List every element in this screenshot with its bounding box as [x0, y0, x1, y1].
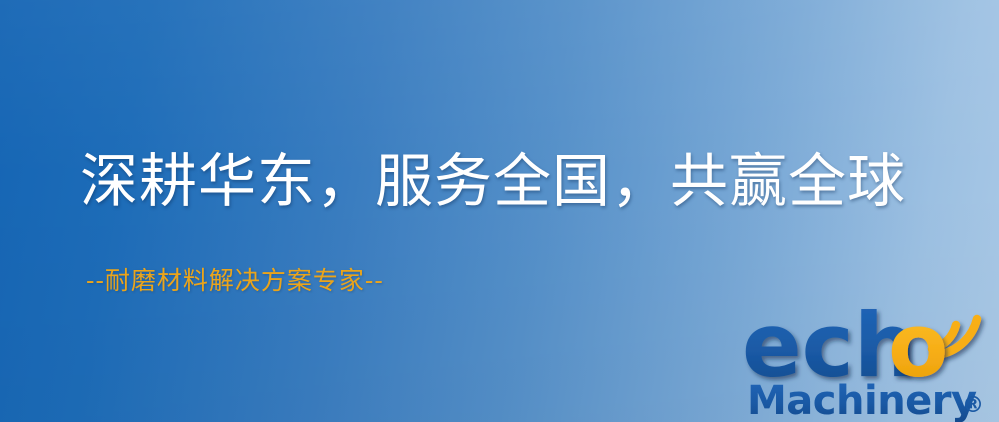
banner-subtitle: --耐磨材料解决方案专家--: [86, 268, 384, 293]
logo-svg: ech o Machinery ®: [744, 296, 999, 422]
registered-trademark-icon: ®: [962, 393, 984, 418]
echo-machinery-logo[interactable]: ech o Machinery ®: [744, 296, 999, 422]
hero-banner: 深耕华东，服务全国，共赢全球 --耐磨材料解决方案专家--: [0, 0, 999, 422]
banner-headline: 深耕华东，服务全国，共赢全球: [80, 152, 906, 210]
logo-text-machinery: Machinery: [747, 378, 977, 422]
